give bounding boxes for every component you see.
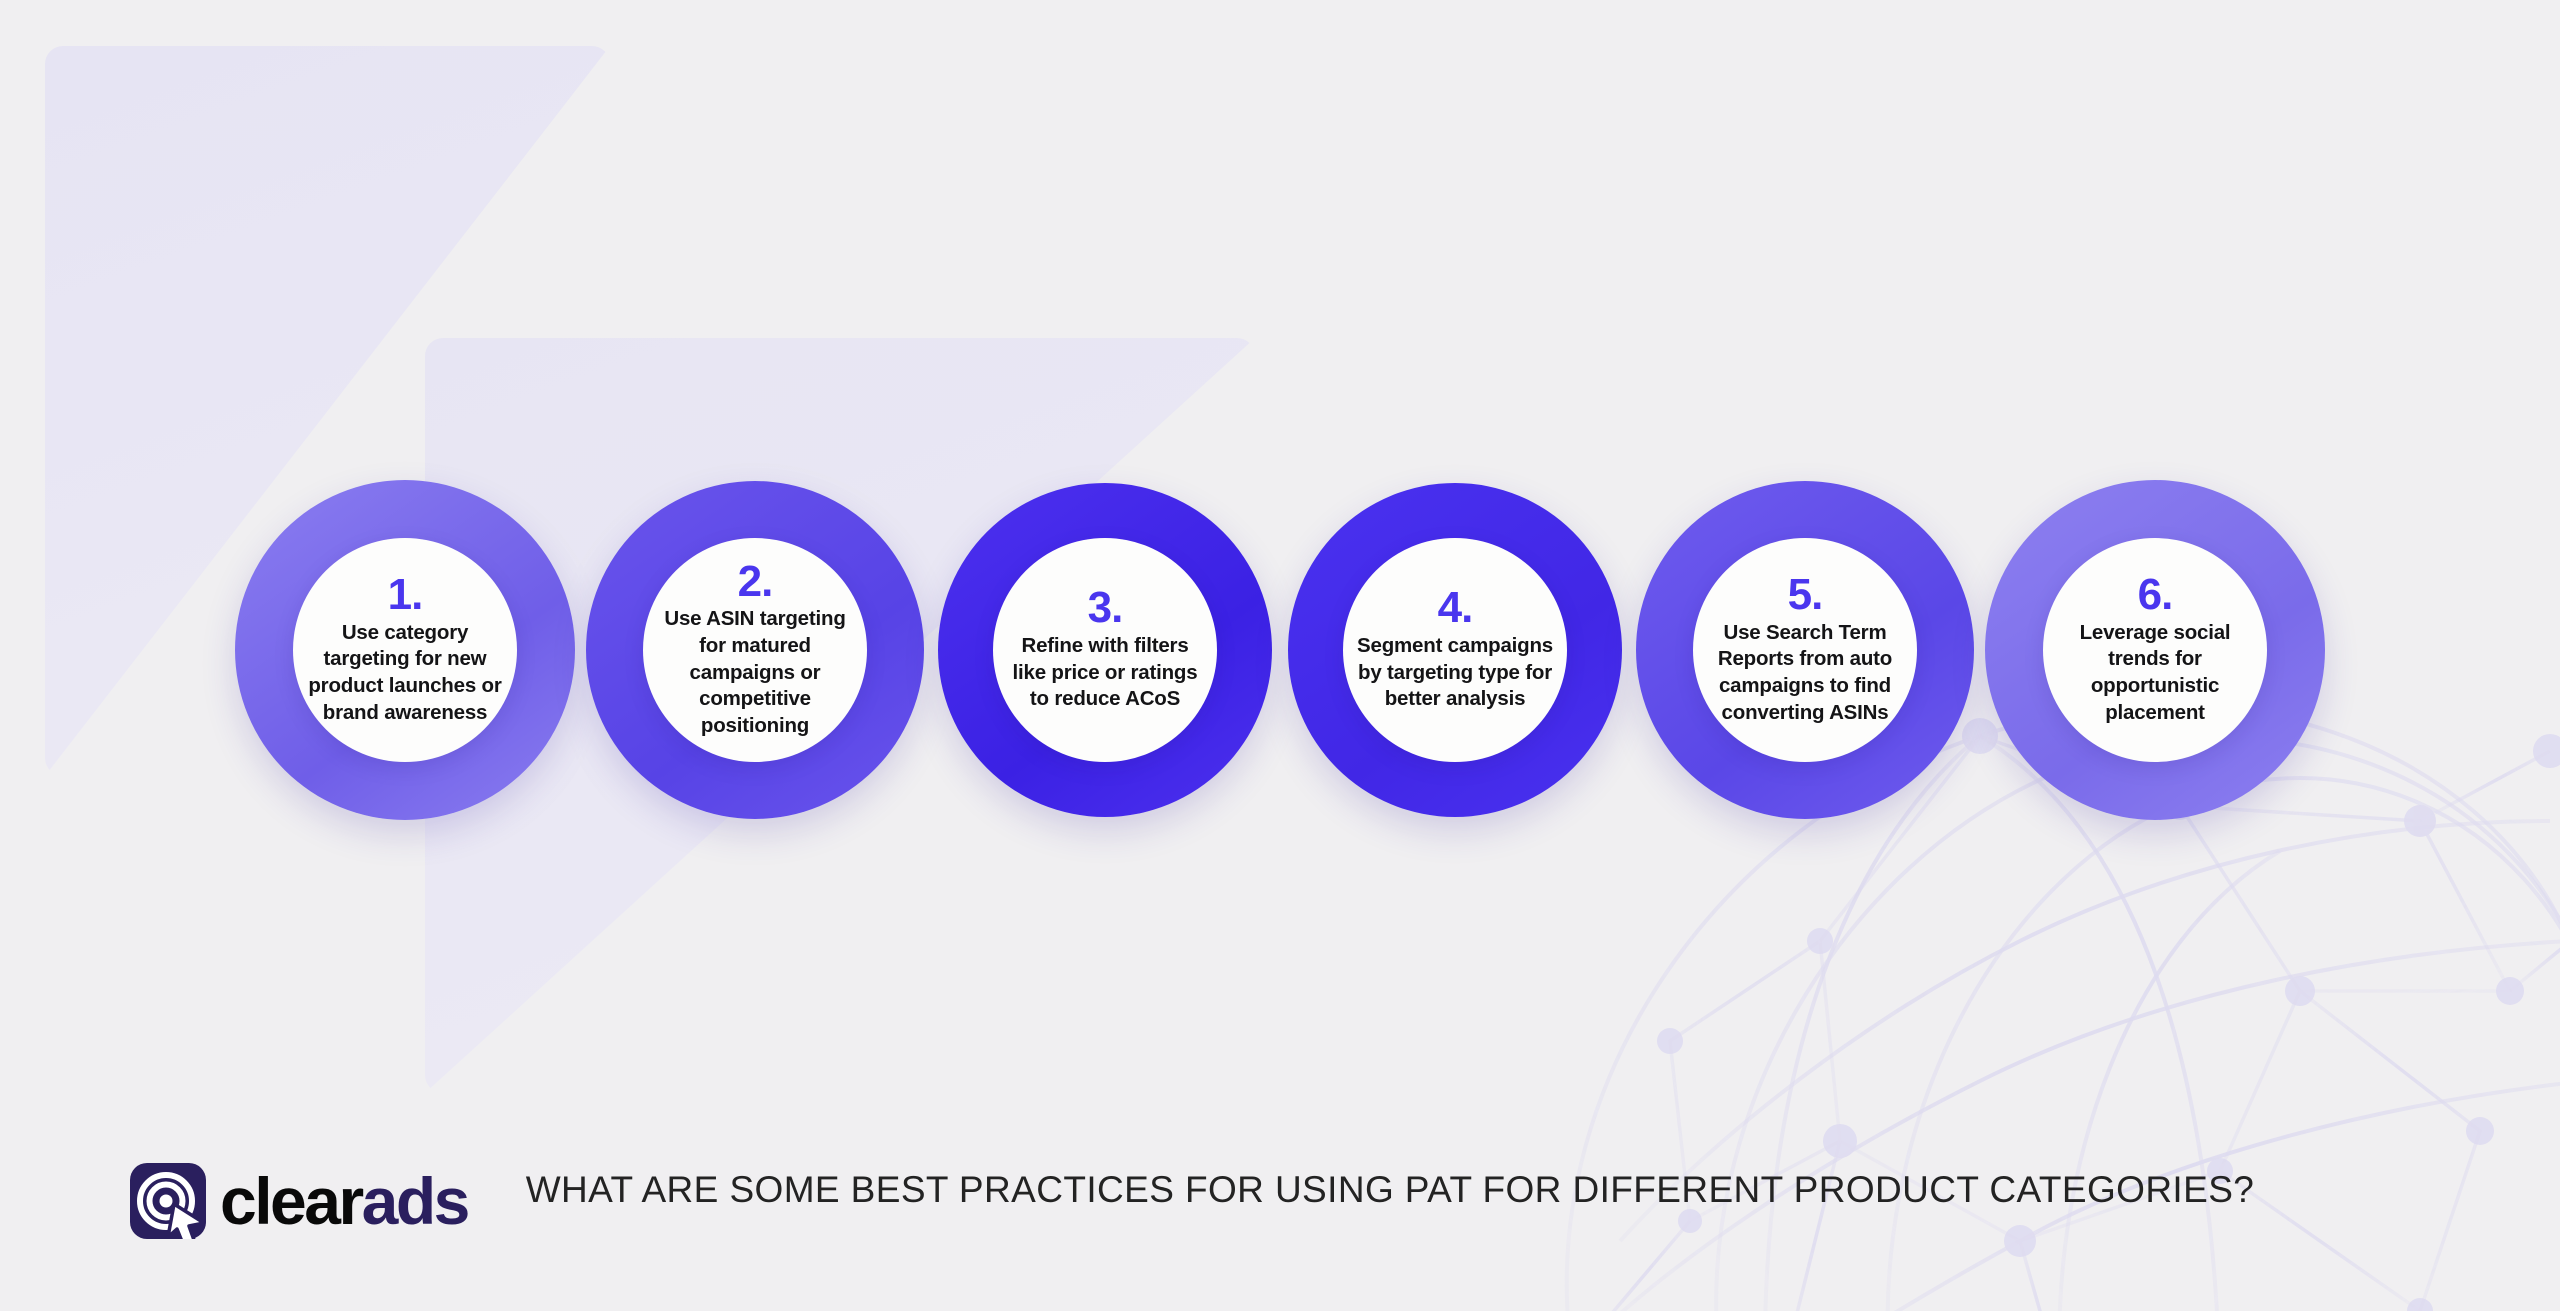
- step-content: 6. Leverage social trends for opportunis…: [2043, 538, 2267, 762]
- footer: clearads WHAT ARE SOME BEST PRACTICES FO…: [0, 1091, 2560, 1311]
- process-step-2[interactable]: 2. Use ASIN targeting for matured campai…: [559, 455, 951, 845]
- step-text: Segment campaigns by targeting type for …: [1355, 633, 1555, 713]
- step-number: 6.: [2138, 574, 2173, 616]
- step-ring: 6. Leverage social trends for opportunis…: [1985, 480, 2325, 820]
- step-ring: 1. Use category targeting for new produc…: [235, 480, 575, 820]
- step-text: Use category targeting for new product l…: [305, 620, 505, 727]
- step-number: 5.: [1788, 574, 1823, 616]
- step-ring: 5. Use Search Term Reports from auto cam…: [1636, 481, 1974, 819]
- step-content: 1. Use category targeting for new produc…: [293, 538, 517, 762]
- step-number: 2.: [738, 561, 773, 603]
- process-step-4[interactable]: 4. Segment campaigns by targeting type f…: [1259, 455, 1651, 845]
- step-number: 3.: [1088, 587, 1123, 629]
- step-ring: 2. Use ASIN targeting for matured campai…: [586, 481, 924, 819]
- step-text: Refine with filters like price or rating…: [1005, 633, 1205, 713]
- step-content: 3. Refine with filters like price or rat…: [993, 538, 1217, 762]
- step-content: 5. Use Search Term Reports from auto cam…: [1693, 538, 1917, 762]
- step-ring: 4. Segment campaigns by targeting type f…: [1288, 483, 1622, 817]
- step-content: 4. Segment campaigns by targeting type f…: [1343, 538, 1567, 762]
- process-step-3[interactable]: 3. Refine with filters like price or rat…: [909, 455, 1301, 845]
- process-steps-row: 1. Use category targeting for new produc…: [0, 455, 2560, 845]
- step-ring: 3. Refine with filters like price or rat…: [938, 483, 1272, 817]
- process-step-5[interactable]: 5. Use Search Term Reports from auto cam…: [1609, 455, 2001, 845]
- step-content: 2. Use ASIN targeting for matured campai…: [643, 538, 867, 762]
- step-text: Leverage social trends for opportunistic…: [2055, 620, 2255, 727]
- process-step-1[interactable]: 1. Use category targeting for new produc…: [209, 455, 601, 845]
- step-number: 4.: [1438, 587, 1473, 629]
- step-text: Use ASIN targeting for matured campaigns…: [655, 606, 855, 739]
- process-step-6[interactable]: 6. Leverage social trends for opportunis…: [1959, 455, 2351, 845]
- footer-question-text: WHAT ARE SOME BEST PRACTICES FOR USING P…: [110, 1169, 2560, 1211]
- step-number: 1.: [388, 574, 423, 616]
- step-text: Use Search Term Reports from auto campai…: [1705, 620, 1905, 727]
